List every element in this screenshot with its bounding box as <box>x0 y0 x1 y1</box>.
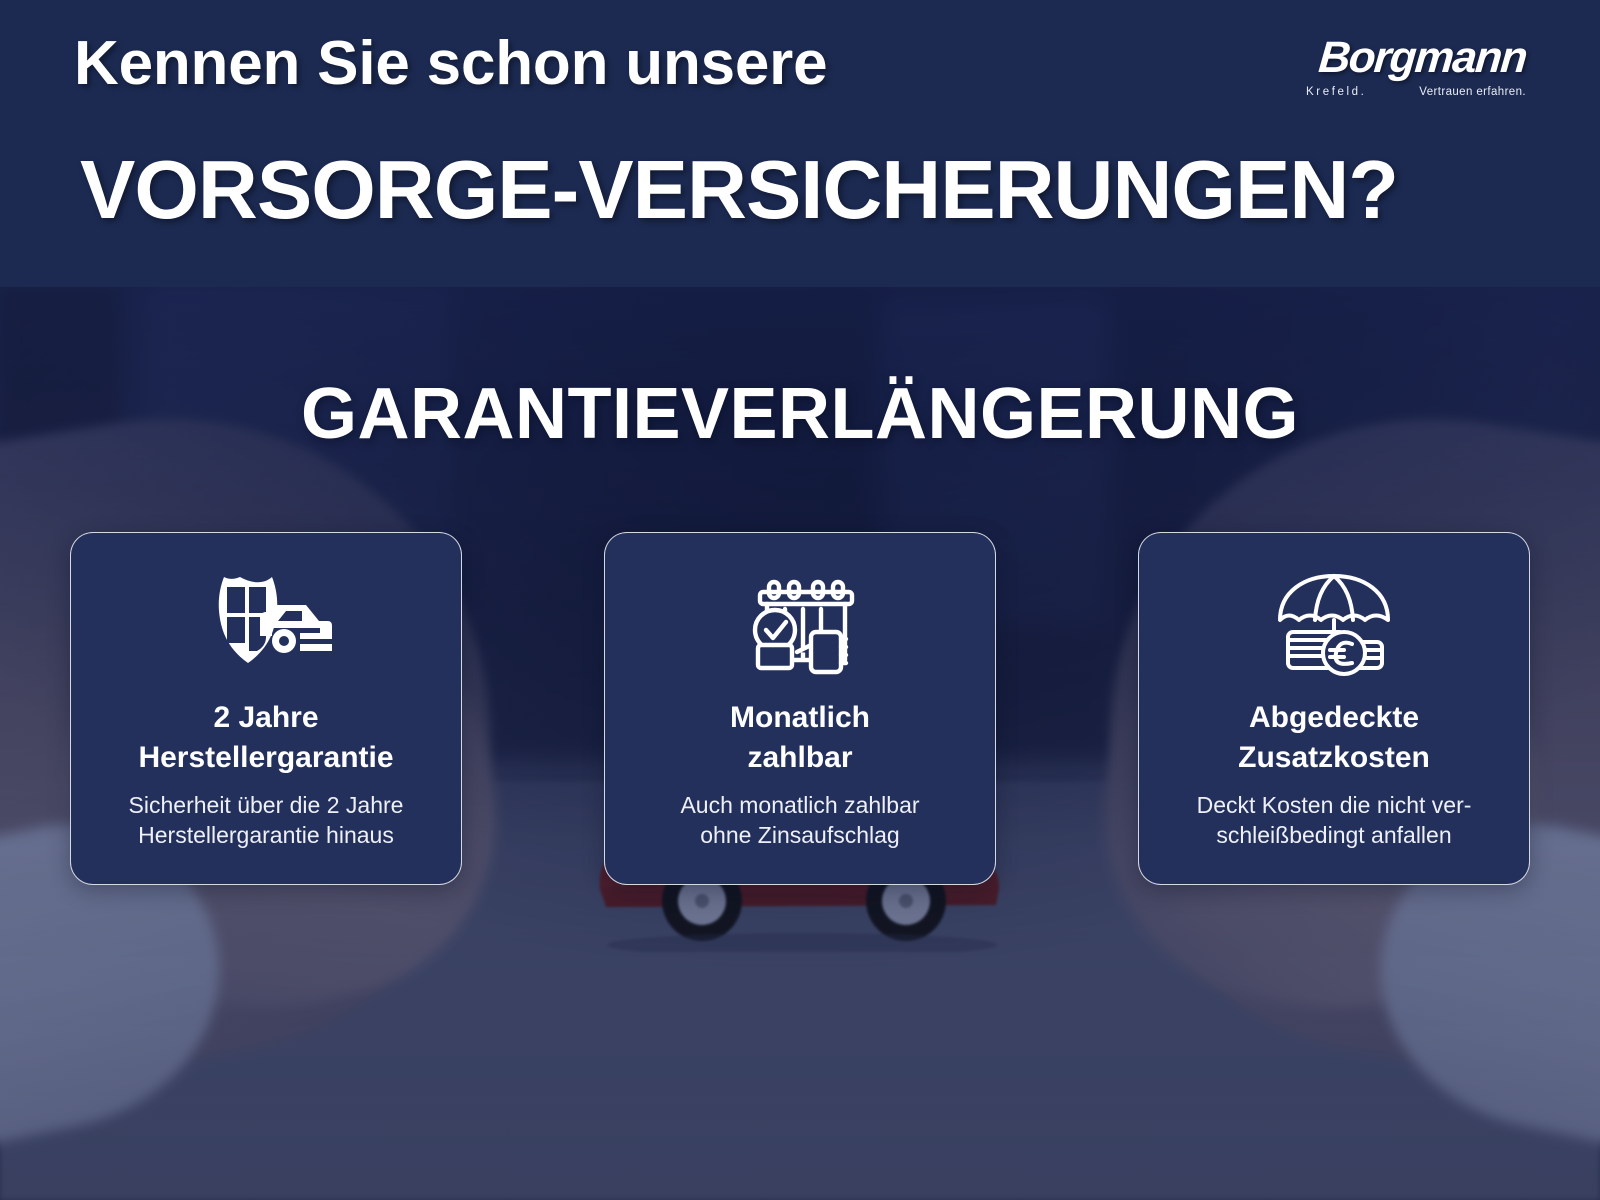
feature-card-list: 2 Jahre Herstellergarantie Sicherheit üb… <box>70 532 1530 885</box>
header-band: Kennen Sie schon unsere VORSORGE-VERSICH… <box>0 0 1600 287</box>
feature-card-description: Sicherheit über die 2 Jahre Herstellerga… <box>129 790 404 851</box>
feature-card-title: Monatlich zahlbar <box>730 698 870 778</box>
brand-logo-tagline-claim: Vertrauen erfahren. <box>1419 86 1526 98</box>
header-headline: VORSORGE-VERSICHERUNGEN? <box>80 148 1398 233</box>
section-title: GARANTIEVERLÄNGERUNG <box>0 378 1600 450</box>
header-kicker: Kennen Sie schon unsere <box>74 31 827 96</box>
feature-card-title: 2 Jahre Herstellergarantie <box>138 698 393 778</box>
feature-card-herstellergarantie[interactable]: 2 Jahre Herstellergarantie Sicherheit üb… <box>70 532 462 885</box>
brand-logo-tagline-city: Krefeld. <box>1306 86 1366 98</box>
calendar-check-cash-icon <box>741 567 859 679</box>
feature-card-title: Abgedeckte Zusatzkosten <box>1238 698 1430 778</box>
ad-banner: Kennen Sie schon unsere VORSORGE-VERSICH… <box>0 0 1600 1200</box>
brand-logo-wordmark: Borgmann <box>1304 36 1528 80</box>
feature-card-monatlich-zahlbar[interactable]: Monatlich zahlbar Auch monatlich zahlbar… <box>604 532 996 885</box>
shield-car-icon <box>200 567 332 679</box>
feature-card-zusatzkosten[interactable]: Abgedeckte Zusatzkosten Deckt Kosten die… <box>1138 532 1530 885</box>
umbrella-euro-coins-icon <box>1272 567 1396 679</box>
feature-card-description: Deckt Kosten die nicht ver- schleißbedin… <box>1197 790 1472 851</box>
feature-card-description: Auch monatlich zahlbar ohne Zinsaufschla… <box>680 790 919 851</box>
brand-logo-tagline: Krefeld. Vertrauen erfahren. <box>1306 86 1526 98</box>
brand-logo[interactable]: Borgmann Krefeld. Vertrauen erfahren. <box>1306 36 1526 106</box>
